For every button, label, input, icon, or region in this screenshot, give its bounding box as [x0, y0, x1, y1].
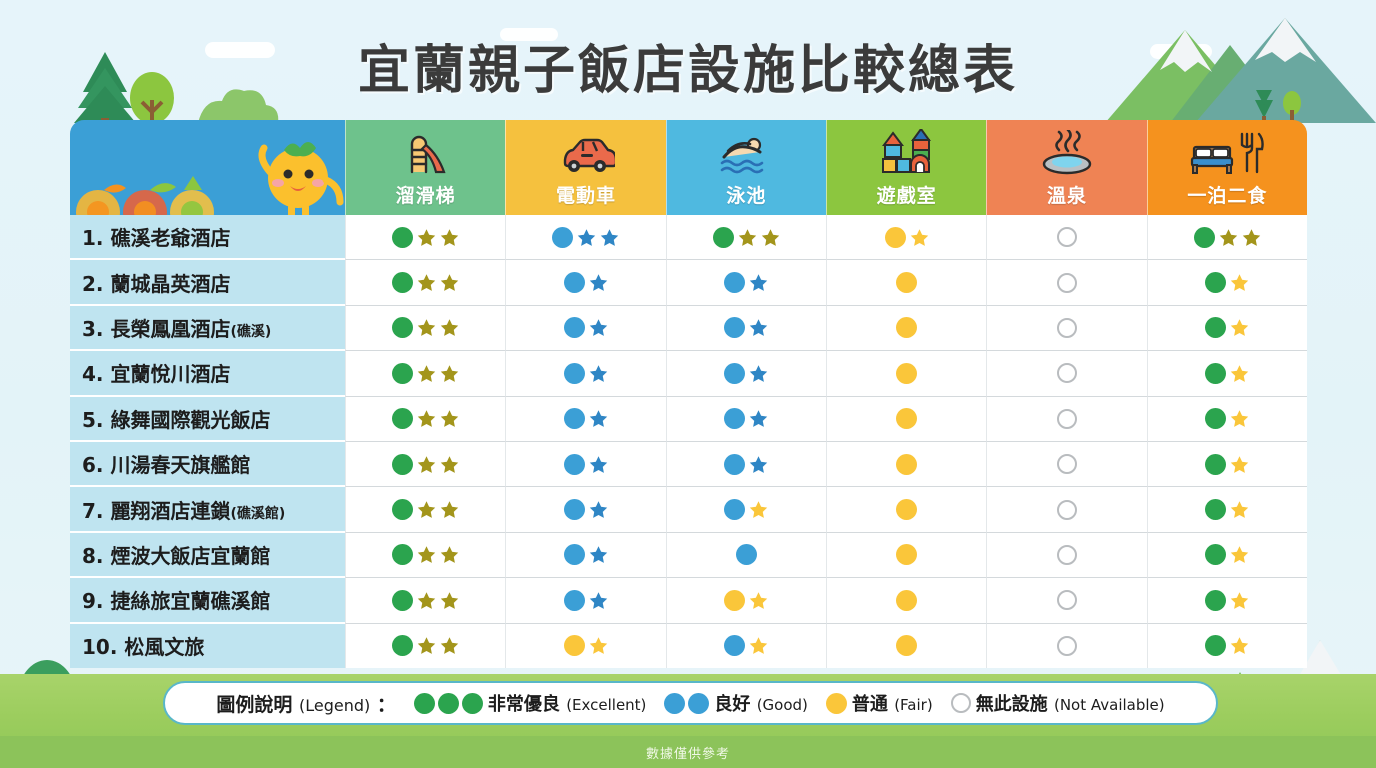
star-icon	[749, 273, 768, 292]
table-row: 3. 長榮鳳凰酒店(礁溪)	[70, 306, 1307, 351]
rating-dot-none	[1057, 227, 1077, 247]
rating-dot-good	[564, 408, 585, 429]
rating-dot-excellent	[1205, 544, 1226, 565]
star-icon	[1230, 364, 1249, 383]
star-icon	[1230, 545, 1249, 564]
blocks-icon	[877, 127, 937, 179]
rating-cell[interactable]	[826, 442, 986, 487]
rating-cell[interactable]	[505, 306, 665, 351]
rating-dot-fair	[564, 635, 585, 656]
rating-cell[interactable]	[505, 442, 665, 487]
rating-dot-good	[564, 317, 585, 338]
legend-label-zh: 無此設施	[976, 694, 1048, 715]
slide-icon	[400, 127, 452, 179]
table-header-row: 溜滑梯電動車泳池遊戲室溫泉一泊二食	[70, 120, 1307, 215]
rating-dot-excellent	[1194, 227, 1215, 248]
footer-note: 數據僅供參考	[646, 743, 730, 762]
rating-cell[interactable]	[666, 578, 826, 623]
rating-cell[interactable]	[666, 442, 826, 487]
star-icon	[589, 591, 608, 610]
legend-label-zh: 良好	[714, 694, 750, 715]
hotel-rank: 8.	[82, 544, 104, 568]
hotel-name-sub: (礁溪館)	[230, 506, 285, 522]
rating-dot-fair	[896, 499, 917, 520]
rating-cell[interactable]	[986, 260, 1146, 305]
rating-dot-excellent	[392, 408, 413, 429]
rating-cell[interactable]	[345, 351, 505, 396]
hotel-name-cell[interactable]: 1. 礁溪老爺酒店	[70, 215, 345, 260]
facility-label: 泳池	[726, 181, 766, 208]
rating-dot-excellent	[1205, 454, 1226, 475]
header-cell-toy-car: 電動車	[505, 120, 665, 215]
rating-cell[interactable]	[986, 624, 1146, 668]
rating-dot-excellent	[438, 693, 459, 714]
star-icon	[440, 228, 459, 247]
legend-dots	[826, 693, 847, 714]
rating-cell[interactable]	[1147, 442, 1307, 487]
facility-label: 電動車	[556, 181, 616, 208]
rating-dot-fair	[896, 635, 917, 656]
rating-cell[interactable]	[345, 442, 505, 487]
rating-cell[interactable]	[505, 215, 665, 260]
rating-dot-good	[564, 544, 585, 565]
rating-dot-excellent	[392, 454, 413, 475]
rating-dot-good	[724, 408, 745, 429]
rating-dot-excellent	[414, 693, 435, 714]
star-icon	[749, 591, 768, 610]
hotel-rank: 10.	[82, 635, 117, 659]
table-row: 2. 蘭城晶英酒店	[70, 260, 1307, 305]
rating-dot-fair	[896, 544, 917, 565]
legend-label-zh: 非常優良	[488, 694, 560, 715]
rating-dot-good	[564, 272, 585, 293]
comparison-table: 溜滑梯電動車泳池遊戲室溫泉一泊二食 1. 礁溪老爺酒店2. 蘭城晶英酒店3. 長…	[70, 120, 1307, 668]
hotel-name-cell[interactable]: 6. 川湯春天旗艦館	[70, 442, 345, 487]
hotel-name-cell[interactable]: 8. 煙波大飯店宜蘭館	[70, 533, 345, 578]
legend-lead: 圖例說明 (Legend) ：	[216, 690, 396, 717]
rating-dot-fair	[896, 272, 917, 293]
legend-label-zh: 普通	[852, 694, 888, 715]
rating-dot-none	[1057, 363, 1077, 383]
rating-dot-excellent	[1205, 499, 1226, 520]
rating-cell[interactable]	[666, 351, 826, 396]
star-icon	[417, 228, 436, 247]
rating-cell[interactable]	[826, 260, 986, 305]
star-icon	[589, 318, 608, 337]
swimmer-icon	[718, 127, 774, 179]
hotel-name-sub: (礁溪)	[230, 324, 271, 340]
rating-cell[interactable]	[1147, 624, 1307, 668]
star-icon	[440, 545, 459, 564]
rating-cell[interactable]	[826, 533, 986, 578]
rating-cell[interactable]	[505, 397, 665, 442]
star-icon	[440, 636, 459, 655]
legend: 圖例說明 (Legend) ： 非常優良 (Excellent)良好 (Good…	[163, 681, 1218, 725]
rating-dot-excellent	[392, 590, 413, 611]
rating-dot-fair	[896, 408, 917, 429]
star-icon	[417, 636, 436, 655]
star-icon	[749, 500, 768, 519]
legend-item-excellent: 非常優良 (Excellent)	[414, 690, 647, 716]
legend-item-fair: 普通 (Fair)	[826, 690, 933, 716]
star-icon	[749, 318, 768, 337]
rating-dot-none	[1057, 500, 1077, 520]
rating-dot-good	[564, 590, 585, 611]
star-icon	[749, 409, 768, 428]
table-header: 溜滑梯電動車泳池遊戲室溫泉一泊二食	[70, 120, 1307, 215]
rating-dot-excellent	[1205, 317, 1226, 338]
rating-cell[interactable]	[1147, 487, 1307, 532]
hotel-name: 捷絲旅宜蘭礁溪館	[110, 589, 270, 613]
rating-cell[interactable]	[345, 215, 505, 260]
table-row: 5. 綠舞國際觀光飯店	[70, 397, 1307, 442]
hotel-rank: 4.	[82, 362, 104, 386]
facility-label: 溫泉	[1047, 181, 1087, 208]
rating-dot-excellent	[713, 227, 734, 248]
star-icon	[440, 409, 459, 428]
star-icon	[1230, 409, 1249, 428]
star-icon	[417, 545, 436, 564]
rating-dot-fair	[896, 590, 917, 611]
rating-dot-good	[552, 227, 573, 248]
hotel-rank: 6.	[82, 453, 104, 477]
table-row: 1. 礁溪老爺酒店	[70, 215, 1307, 260]
star-icon	[600, 228, 619, 247]
rating-dot-excellent	[1205, 590, 1226, 611]
rating-cell[interactable]	[666, 215, 826, 260]
rating-cell[interactable]	[345, 533, 505, 578]
table-row: 4. 宜蘭悅川酒店	[70, 351, 1307, 396]
star-icon	[440, 591, 459, 610]
table-row: 9. 捷絲旅宜蘭礁溪館	[70, 578, 1307, 623]
rating-cell[interactable]	[1147, 260, 1307, 305]
hotel-name-cell[interactable]: 5. 綠舞國際觀光飯店	[70, 397, 345, 442]
facility-label: 溜滑梯	[396, 181, 456, 208]
hotel-name: 礁溪老爺酒店	[110, 226, 230, 250]
rating-cell[interactable]	[345, 397, 505, 442]
rating-dot-excellent	[1205, 272, 1226, 293]
star-icon	[440, 500, 459, 519]
rating-cell[interactable]	[345, 260, 505, 305]
rating-dot-good	[664, 693, 685, 714]
rating-cell[interactable]	[505, 351, 665, 396]
star-icon	[910, 228, 929, 247]
bed-cutlery-icon	[1190, 127, 1264, 179]
mascot-fruit-icon	[70, 120, 345, 215]
rating-dot-fair	[896, 454, 917, 475]
rating-cell[interactable]	[345, 306, 505, 351]
rating-dot-none	[1057, 454, 1077, 474]
rating-dot-good	[724, 635, 745, 656]
hotel-name-cell[interactable]: 4. 宜蘭悅川酒店	[70, 351, 345, 396]
rating-cell[interactable]	[826, 487, 986, 532]
legend-label-en: (Fair)	[894, 696, 932, 714]
hotel-name: 綠舞國際觀光飯店	[110, 408, 270, 432]
legend-dots	[414, 693, 483, 714]
legend-dots	[664, 693, 709, 714]
star-icon	[589, 500, 608, 519]
rating-dot-none	[1057, 409, 1077, 429]
footer-note-band: 數據僅供參考	[0, 736, 1376, 768]
rating-cell[interactable]	[1147, 397, 1307, 442]
rating-dot-good	[724, 272, 745, 293]
rating-dot-none	[951, 693, 971, 713]
rating-dot-none	[1057, 545, 1077, 565]
star-icon	[589, 409, 608, 428]
rating-dot-excellent	[462, 693, 483, 714]
rating-cell[interactable]	[505, 260, 665, 305]
star-icon	[1219, 228, 1238, 247]
table-row: 10. 松風文旅	[70, 624, 1307, 668]
rating-dot-fair	[885, 227, 906, 248]
legend-items: 非常優良 (Excellent)良好 (Good)普通 (Fair)無此設施 (…	[396, 690, 1165, 716]
rating-cell[interactable]	[826, 306, 986, 351]
rating-cell[interactable]	[986, 351, 1146, 396]
star-icon	[589, 545, 608, 564]
star-icon	[1230, 591, 1249, 610]
hotel-name: 煙波大飯店宜蘭館	[110, 544, 270, 568]
rating-dot-excellent	[1205, 408, 1226, 429]
rating-cell[interactable]	[666, 397, 826, 442]
rating-dot-excellent	[392, 317, 413, 338]
star-icon	[1230, 318, 1249, 337]
facility-label: 一泊二食	[1187, 181, 1267, 208]
header-cell-blocks: 遊戲室	[826, 120, 986, 215]
star-icon	[440, 273, 459, 292]
toy-car-icon	[557, 127, 615, 179]
hotel-name: 長榮鳳凰酒店	[110, 317, 230, 341]
hotel-name-cell[interactable]: 2. 蘭城晶英酒店	[70, 260, 345, 305]
legend-lead-en: (Legend)	[299, 696, 370, 715]
star-icon	[1230, 500, 1249, 519]
hotel-name: 麗翔酒店連鎖	[110, 499, 230, 523]
legend-label-en: (Not Available)	[1054, 696, 1165, 714]
rating-cell[interactable]	[986, 578, 1146, 623]
rating-dot-good	[736, 544, 757, 565]
hot-spring-icon	[1039, 127, 1095, 179]
table-row: 7. 麗翔酒店連鎖(礁溪館)	[70, 487, 1307, 532]
rating-dot-none	[1057, 590, 1077, 610]
rating-dot-good	[724, 317, 745, 338]
rating-cell[interactable]	[826, 215, 986, 260]
header-cell-bed-cutlery: 一泊二食	[1147, 120, 1307, 215]
rating-cell[interactable]	[666, 533, 826, 578]
rating-cell[interactable]	[666, 260, 826, 305]
rating-dot-good	[564, 454, 585, 475]
rating-cell[interactable]	[345, 578, 505, 623]
infographic-root: 數據僅供參考 宜蘭親子飯店設施比較總表	[0, 0, 1376, 768]
comparison-table-wrap: 溜滑梯電動車泳池遊戲室溫泉一泊二食 1. 礁溪老爺酒店2. 蘭城晶英酒店3. 長…	[70, 120, 1307, 668]
rating-dot-excellent	[392, 272, 413, 293]
rating-cell[interactable]	[986, 533, 1146, 578]
star-icon	[417, 409, 436, 428]
rating-dot-excellent	[392, 227, 413, 248]
rating-dot-good	[724, 363, 745, 384]
rating-cell[interactable]	[1147, 578, 1307, 623]
rating-cell[interactable]	[826, 351, 986, 396]
star-icon	[589, 455, 608, 474]
legend-dots	[951, 693, 971, 713]
rating-dot-none	[1057, 636, 1077, 656]
rating-cell[interactable]	[505, 533, 665, 578]
star-icon	[417, 591, 436, 610]
hotel-name-cell[interactable]: 10. 松風文旅	[70, 624, 345, 668]
rating-cell[interactable]	[1147, 306, 1307, 351]
rating-cell[interactable]	[826, 578, 986, 623]
rating-dot-excellent	[1205, 635, 1226, 656]
rating-cell[interactable]	[986, 442, 1146, 487]
star-icon	[577, 228, 596, 247]
star-icon	[417, 364, 436, 383]
rating-cell[interactable]	[986, 487, 1146, 532]
rating-dot-good	[564, 363, 585, 384]
star-icon	[417, 500, 436, 519]
star-icon	[440, 364, 459, 383]
rating-cell[interactable]	[505, 624, 665, 668]
legend-colon: ：	[377, 694, 396, 716]
hotel-rank: 3.	[82, 317, 104, 341]
rating-cell[interactable]	[505, 487, 665, 532]
hotel-name-cell[interactable]: 3. 長榮鳳凰酒店(礁溪)	[70, 306, 345, 351]
rating-dot-fair	[896, 363, 917, 384]
page-title: 宜蘭親子飯店設施比較總表	[0, 28, 1376, 103]
star-icon	[1230, 455, 1249, 474]
hotel-name: 宜蘭悅川酒店	[110, 362, 230, 386]
table-body: 1. 礁溪老爺酒店2. 蘭城晶英酒店3. 長榮鳳凰酒店(礁溪)4. 宜蘭悅川酒店…	[70, 215, 1307, 668]
star-icon	[440, 455, 459, 474]
rating-cell[interactable]	[666, 487, 826, 532]
rating-cell[interactable]	[826, 624, 986, 668]
header-cell-hotel	[70, 120, 345, 215]
legend-item-none: 無此設施 (Not Available)	[951, 690, 1165, 716]
star-icon	[589, 636, 608, 655]
table-row: 8. 煙波大飯店宜蘭館	[70, 533, 1307, 578]
rating-dot-fair	[724, 590, 745, 611]
hotel-rank: 1.	[82, 226, 104, 250]
star-icon	[749, 364, 768, 383]
rating-cell[interactable]	[666, 306, 826, 351]
legend-lead-zh: 圖例說明	[216, 694, 292, 716]
rating-dot-excellent	[392, 635, 413, 656]
star-icon	[738, 228, 757, 247]
star-icon	[749, 455, 768, 474]
rating-cell[interactable]	[986, 306, 1146, 351]
star-icon	[761, 228, 780, 247]
hotel-name: 川湯春天旗艦館	[110, 453, 250, 477]
star-icon	[749, 636, 768, 655]
star-icon	[417, 273, 436, 292]
hotel-name: 蘭城晶英酒店	[110, 272, 230, 296]
hotel-rank: 7.	[82, 499, 104, 523]
rating-cell[interactable]	[986, 215, 1146, 260]
rating-dot-good	[688, 693, 709, 714]
rating-cell[interactable]	[986, 397, 1146, 442]
legend-item-good: 良好 (Good)	[664, 690, 808, 716]
facility-label: 遊戲室	[877, 181, 937, 208]
star-icon	[417, 455, 436, 474]
hotel-name-cell[interactable]: 7. 麗翔酒店連鎖(礁溪館)	[70, 487, 345, 532]
header-cell-slide: 溜滑梯	[345, 120, 505, 215]
rating-dot-none	[1057, 318, 1077, 338]
rating-dot-good	[724, 499, 745, 520]
star-icon	[440, 318, 459, 337]
rating-cell[interactable]	[666, 624, 826, 668]
rating-cell[interactable]	[1147, 533, 1307, 578]
rating-cell[interactable]	[826, 397, 986, 442]
star-icon	[1242, 228, 1261, 247]
rating-cell[interactable]	[505, 578, 665, 623]
rating-dot-excellent	[392, 499, 413, 520]
hotel-name: 松風文旅	[124, 635, 204, 659]
hotel-name-cell[interactable]: 9. 捷絲旅宜蘭礁溪館	[70, 578, 345, 623]
hotel-rank: 9.	[82, 589, 104, 613]
star-icon	[1230, 273, 1249, 292]
header-cell-hot-spring: 溫泉	[986, 120, 1146, 215]
hotel-rank: 5.	[82, 408, 104, 432]
legend-label-en: (Good)	[757, 696, 808, 714]
rating-dot-good	[724, 454, 745, 475]
rating-dot-excellent	[1205, 363, 1226, 384]
star-icon	[589, 273, 608, 292]
rating-cell[interactable]	[345, 487, 505, 532]
star-icon	[1230, 636, 1249, 655]
legend-label-en: (Excellent)	[566, 696, 646, 714]
rating-cell[interactable]	[1147, 351, 1307, 396]
rating-cell[interactable]	[345, 624, 505, 668]
star-icon	[417, 318, 436, 337]
header-cell-swimmer: 泳池	[666, 120, 826, 215]
hotel-rank: 2.	[82, 272, 104, 296]
table-row: 6. 川湯春天旗艦館	[70, 442, 1307, 487]
rating-dot-excellent	[392, 544, 413, 565]
rating-dot-fair	[896, 317, 917, 338]
rating-dot-good	[564, 499, 585, 520]
rating-dot-none	[1057, 273, 1077, 293]
star-icon	[589, 364, 608, 383]
rating-dot-excellent	[392, 363, 413, 384]
rating-cell[interactable]	[1147, 215, 1307, 260]
rating-dot-fair	[826, 693, 847, 714]
